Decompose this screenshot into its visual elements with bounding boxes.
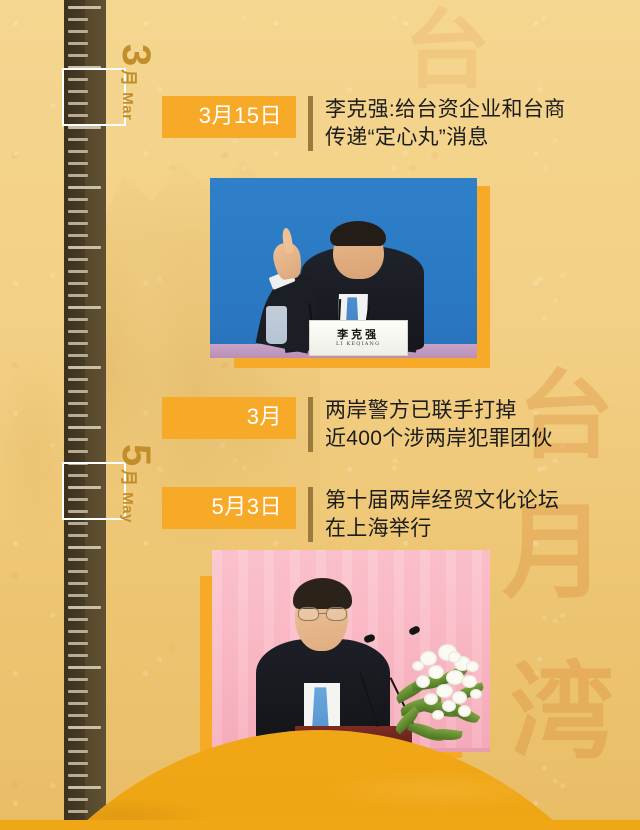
- timeline-entry-1[interactable]: 3月15日 李克强:给台资企业和台商 传递“定心丸”消息: [162, 96, 565, 151]
- ruler-tick: [68, 798, 88, 801]
- ruler-tick: [68, 270, 88, 273]
- ruler-tick: [68, 378, 88, 381]
- infographic-canvas: 台 台 月 湾 3 月 Mar 5 月 May 3月15日 李克强:给台资企业和…: [0, 0, 640, 830]
- entry-headline-2: 两岸警方已联手打掉 近400个涉两岸犯罪团伙: [325, 397, 553, 452]
- ruler-tick: [68, 222, 88, 225]
- photo2-eyeglasses: [298, 607, 347, 621]
- ruler-tick: [68, 714, 88, 717]
- ruler-tick: [68, 126, 101, 129]
- flower-bloom: [448, 651, 461, 663]
- ruler-tick: [68, 642, 88, 645]
- ruler-tick: [68, 558, 88, 561]
- photo-image-1: 李克强 LI KEQIANG: [210, 178, 477, 358]
- ruler-tick: [68, 630, 88, 633]
- timeline-entry-3[interactable]: 5月3日 第十届两岸经贸文化论坛 在上海举行: [162, 487, 559, 542]
- nameplate-chinese: 李克强: [337, 329, 379, 340]
- ruler-tick: [68, 762, 88, 765]
- ruler-tick: [68, 426, 101, 429]
- bottom-edge-strip: [0, 820, 640, 830]
- flower-bloom: [436, 684, 453, 698]
- ruler-tick: [68, 210, 88, 213]
- month-label-may: 5 月 May: [117, 444, 155, 523]
- flower-bloom: [412, 661, 424, 672]
- entry-divider-2: [308, 397, 313, 452]
- ruler-tick: [68, 318, 88, 321]
- flower-bloom: [458, 705, 471, 717]
- ruler-tick: [68, 6, 101, 9]
- ruler-tick: [68, 582, 88, 585]
- eyeglass-bridge: [319, 613, 327, 615]
- ruler-tick: [68, 702, 88, 705]
- eyeglass-lens-right: [326, 607, 346, 621]
- ruler-tick: [68, 282, 88, 285]
- ruler-tick: [68, 258, 88, 261]
- ruler-tick: [68, 186, 101, 189]
- ruler-tick: [68, 18, 88, 21]
- date-badge-3: 5月3日: [162, 487, 296, 529]
- ruler-tick: [68, 294, 88, 297]
- ruler-tick: [68, 666, 101, 669]
- ruler-tick: [68, 546, 101, 549]
- entry-divider-1: [308, 96, 313, 151]
- flower-bloom: [462, 675, 477, 688]
- ruler-tick: [68, 234, 88, 237]
- flower-bloom: [432, 710, 444, 721]
- ruler-tick: [68, 654, 88, 657]
- calligraphy-watermark-4: 台: [404, 8, 490, 94]
- ruler-tick: [68, 246, 101, 249]
- ruler-tick: [68, 738, 88, 741]
- ruler-tick: [68, 174, 88, 177]
- ruler-tick: [68, 606, 101, 609]
- ruler-tick: [68, 522, 88, 525]
- ruler-tick: [68, 342, 88, 345]
- ruler-tick: [68, 306, 101, 309]
- entry-divider-3: [308, 487, 313, 542]
- date-badge-1: 3月15日: [162, 96, 296, 138]
- ruler-tick: [68, 138, 88, 141]
- flower-bloom: [424, 693, 438, 705]
- ruler-tick: [68, 366, 101, 369]
- ruler-tick: [68, 594, 88, 597]
- ruler-tick: [68, 750, 88, 753]
- ruler-tick: [68, 438, 88, 441]
- ruler-tick: [68, 570, 88, 573]
- month-en-abbr: May: [119, 492, 136, 523]
- month-cn-char: 月: [118, 469, 143, 486]
- nameplate-pinyin: LI KEQIANG: [336, 342, 380, 347]
- ruler-tick: [68, 162, 88, 165]
- ruler-tick: [68, 330, 88, 333]
- ruler-tick: [68, 810, 88, 813]
- ruler-tick: [68, 150, 88, 153]
- ruler-tick: [68, 774, 88, 777]
- month-number: 3: [117, 44, 155, 65]
- ruler-tick: [68, 354, 88, 357]
- ruler-tick: [68, 450, 88, 453]
- ruler-tick: [68, 402, 88, 405]
- month-cn-char: 月: [118, 69, 143, 86]
- ruler-tick: [68, 618, 88, 621]
- calligraphy-watermark-3: 湾: [510, 660, 614, 764]
- timeline-entry-2[interactable]: 3月 两岸警方已联手打掉 近400个涉两岸犯罪团伙: [162, 397, 553, 452]
- ruler-tick: [68, 30, 88, 33]
- photo-press-conference[interactable]: 李克强 LI KEQIANG: [210, 178, 490, 368]
- month-label-march: 3 月 Mar: [117, 44, 155, 120]
- photo1-nameplate: 李克强 LI KEQIANG: [309, 320, 408, 356]
- photo-image-2: [212, 550, 490, 752]
- entry-headline-3: 第十届两岸经贸文化论坛 在上海举行: [325, 487, 559, 542]
- ruler-tick: [68, 42, 88, 45]
- ruler-tick: [68, 54, 88, 57]
- month-number: 5: [117, 444, 155, 465]
- ruler-tick: [68, 786, 101, 789]
- month-en-abbr: Mar: [119, 92, 136, 120]
- flower-bloom: [466, 661, 479, 673]
- ruler-tick: [68, 414, 88, 417]
- ruler-tick: [68, 390, 88, 393]
- flower-bloom: [470, 689, 482, 700]
- eyeglass-lens-left: [298, 607, 318, 621]
- photo1-water-glass: [266, 306, 287, 344]
- date-badge-2: 3月: [162, 397, 296, 439]
- ruler-tick: [68, 678, 88, 681]
- entry-headline-1: 李克强:给台资企业和台商 传递“定心丸”消息: [325, 96, 565, 151]
- flower-bloom: [416, 675, 430, 688]
- ruler-tick: [68, 690, 88, 693]
- ruler-tick: [68, 534, 88, 537]
- ruler-tick: [68, 198, 88, 201]
- photo2-flower-arrangement: [390, 635, 490, 752]
- ruler-tick: [68, 726, 101, 729]
